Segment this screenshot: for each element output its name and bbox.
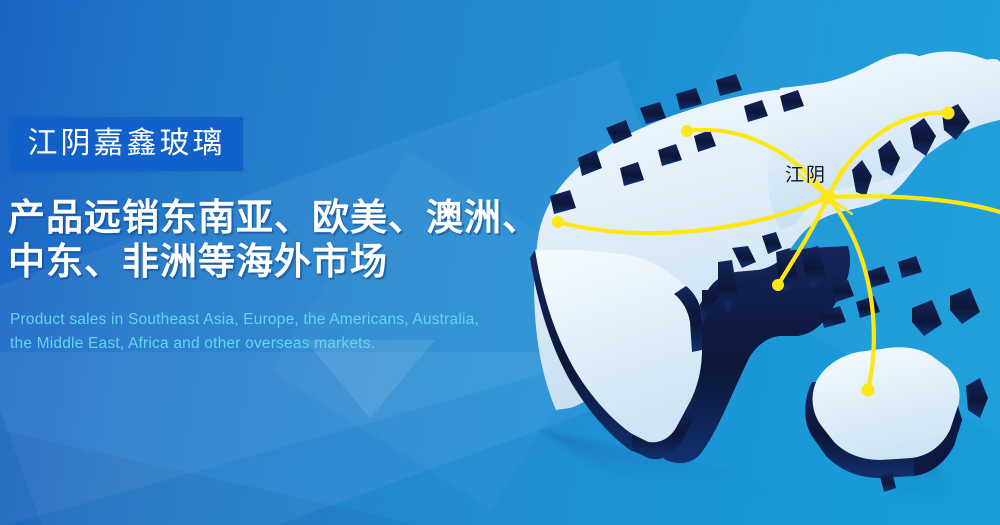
brand-badge: 江阴嘉鑫玻璃 [10, 117, 243, 171]
banner-text-block: 江阴嘉鑫玻璃 产品远销东南亚、欧美、澳洲、 中东、非洲等海外市场 Product… [0, 0, 600, 525]
map-hub-label: 江阴 [785, 166, 827, 185]
headline-title: 产品远销东南亚、欧美、澳洲、 中东、非洲等海外市场 [8, 196, 568, 284]
node-hub-jiangyin [821, 190, 836, 205]
promo-banner: 江阴 江阴嘉鑫玻璃 产品远销东南亚、欧美、澳洲、 中东、非洲等海外市场 Prod… [0, 0, 1000, 525]
headline-subtitle-english: Product sales in Southeast Asia, Europe,… [10, 308, 570, 356]
brand-name: 江阴嘉鑫玻璃 [28, 129, 226, 159]
node-northeast [942, 107, 955, 120]
node-australia [862, 384, 875, 397]
node-europe-north [681, 125, 693, 137]
map-australia [805, 347, 988, 492]
node-southeast-asia [772, 279, 784, 291]
